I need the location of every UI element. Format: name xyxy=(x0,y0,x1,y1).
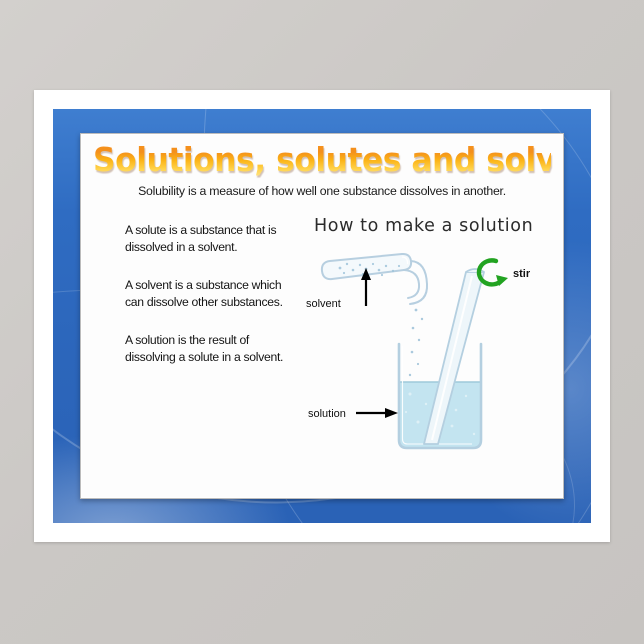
solvent-label: solvent xyxy=(306,298,341,310)
solution-label: solution xyxy=(308,408,346,420)
solution-arrow-head xyxy=(385,408,398,418)
falling-particles xyxy=(409,309,423,377)
page-title: Solutions, solutes and solvents xyxy=(93,140,551,180)
definition-solution: A solution is the result of dissolving a… xyxy=(125,332,285,365)
test-tube xyxy=(322,254,427,376)
poster-content-sheet: Solutions, solutes and solvents Solubili… xyxy=(80,133,564,499)
definitions-column: A solute is a substance that is dissolve… xyxy=(125,222,285,365)
solution-diagram: solvent solution xyxy=(306,244,564,479)
stir-label: stir xyxy=(513,268,531,280)
definition-solute: A solute is a substance that is dissolve… xyxy=(125,222,285,255)
stir-label-group: stir xyxy=(479,260,531,286)
diagram-heading: How to make a solution xyxy=(314,216,533,236)
poster-paper: Solutions, solutes and solvents Solubili… xyxy=(34,90,610,542)
definition-solvent: A solvent is a substance which can disso… xyxy=(125,277,285,310)
solution-label-group: solution xyxy=(308,408,398,420)
desktop-background: Solutions, solutes and solvents Solubili… xyxy=(0,0,644,644)
diagram-column: How to make a solution xyxy=(306,216,564,499)
poster-blue-frame: Solutions, solutes and solvents Solubili… xyxy=(53,109,591,523)
subtitle-text: Solubility is a measure of how well one … xyxy=(81,184,563,198)
